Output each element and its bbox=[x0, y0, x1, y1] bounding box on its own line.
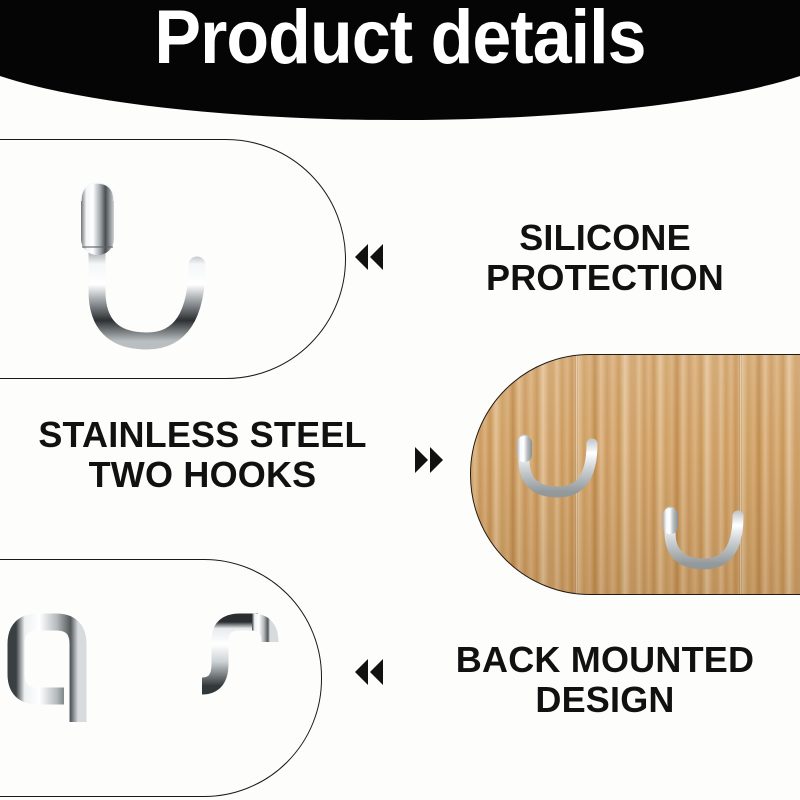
caption-line-2: PROTECTION bbox=[420, 258, 790, 298]
caption-back-mounted-design: BACK MOUNTED DESIGN bbox=[415, 640, 795, 721]
caption-line-1: SILICONE bbox=[420, 218, 790, 258]
page-title: Product details bbox=[0, 0, 800, 76]
arrow-left-stainless-icon bbox=[352, 240, 386, 274]
caption-line-2: TWO HOOKS bbox=[10, 455, 395, 495]
chrome-over-door-bracket-photo bbox=[0, 560, 350, 800]
chrome-j-hook-photo bbox=[55, 155, 315, 375]
caption-line-1: STAINLESS STEEL bbox=[10, 415, 395, 455]
caption-stainless-steel: STAINLESS STEEL TWO HOOKS bbox=[10, 415, 395, 496]
header-banner: Product details bbox=[0, 0, 800, 120]
caption-line-2: DESIGN bbox=[415, 680, 795, 720]
product-details-infographic: Product details bbox=[0, 0, 800, 800]
caption-line-1: BACK MOUNTED bbox=[415, 640, 795, 680]
wood-board-with-two-hooks-photo bbox=[470, 352, 800, 597]
arrow-left-back-mounted-icon bbox=[352, 655, 386, 689]
caption-silicone-protection: SILICONE PROTECTION bbox=[420, 218, 790, 299]
arrow-right-silicone-icon bbox=[412, 443, 446, 477]
